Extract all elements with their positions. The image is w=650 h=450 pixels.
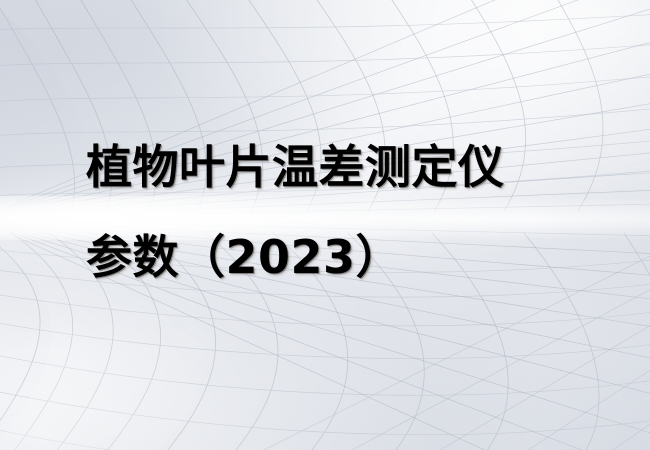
title-banner: 植物叶片温差测定仪 参数（2023） xyxy=(0,0,650,450)
banner-title: 植物叶片温差测定仪 参数（2023） xyxy=(86,122,606,302)
title-line-1: 植物叶片温差测定仪 xyxy=(86,122,606,212)
title-line-2: 参数（2023） xyxy=(86,212,606,302)
